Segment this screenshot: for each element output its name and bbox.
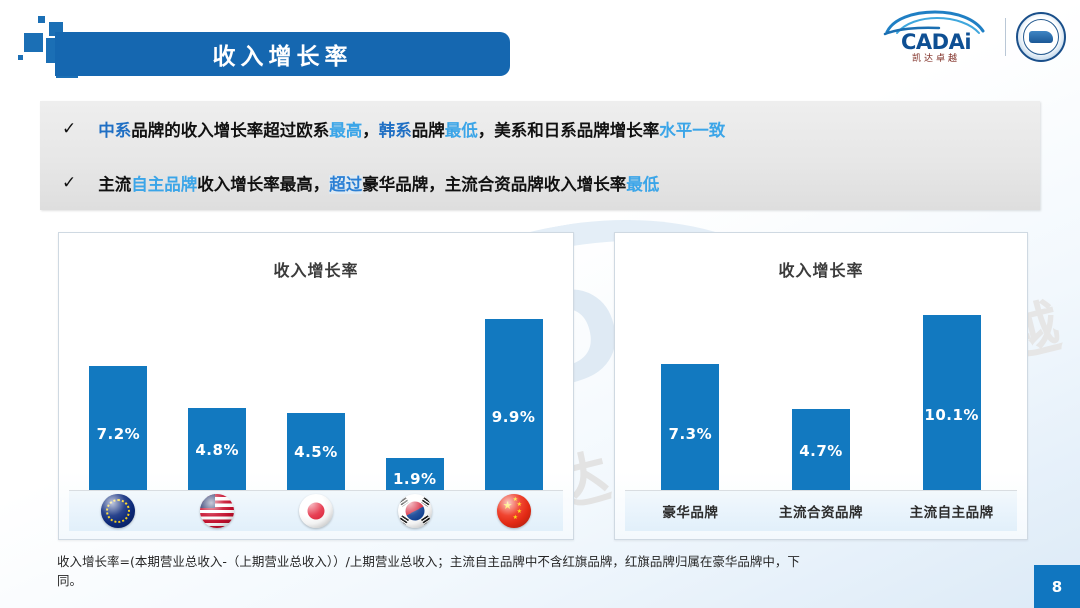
xaxis-label: 主流自主品牌 <box>910 501 994 521</box>
bar-value-label: 4.7% <box>792 442 850 460</box>
chart-left-bars: 7.2% 4.8% 4.5% 1.9% 9.9% <box>69 291 563 491</box>
bar-value-label: 7.3% <box>661 425 719 443</box>
xaxis-label: 豪华品牌 <box>662 501 718 521</box>
bullet-seg: 中系 <box>98 121 131 140</box>
flag-kr-icon <box>398 494 432 528</box>
bar-slot: 4.5% <box>267 291 366 491</box>
bullet-seg: 主流 <box>98 175 131 194</box>
chart-left-title: 收入增长率 <box>59 257 573 281</box>
bullet-item-2-text: 主流自主品牌收入增长率最高，超过豪华品牌，主流合资品牌收入增长率最低 <box>98 171 659 195</box>
bullet-seg: 韩系 <box>379 121 412 140</box>
flag-cn-icon: ★★ ★★★ <box>497 494 531 528</box>
bar-slot: 4.7% <box>756 291 887 491</box>
xaxis-cell <box>267 494 366 528</box>
bar-jp[interactable]: 4.5% <box>287 413 345 491</box>
flag-us-icon <box>200 494 234 528</box>
bar-slot: 9.9% <box>464 291 563 491</box>
seal-core-icon <box>1029 31 1053 43</box>
bullet-seg: 收入增长率最高， <box>197 175 329 194</box>
chart-left-by-origin: 收入增长率 7.2% 4.8% 4.5% 1.9% 9.9% <box>58 232 574 540</box>
bar-value-label: 1.9% <box>386 470 444 488</box>
check-mark-icon: ✓ <box>62 121 76 138</box>
bar-luxury[interactable]: 7.3% <box>661 364 719 491</box>
bullet-seg: ，美系和日系品牌增长率 <box>478 121 660 140</box>
chart-left-plot: 7.2% 4.8% 4.5% 1.9% 9.9% <box>69 291 563 491</box>
bullet-seg: ， <box>362 121 379 140</box>
brand-lockup: CADAi 凯达卓越 <box>877 10 1066 64</box>
bullet-seg: 水平一致 <box>659 121 725 140</box>
bullet-seg: 最低 <box>445 121 478 140</box>
check-mark-icon: ✓ <box>62 175 76 192</box>
bullet-item-1: ✓ 中系品牌的收入增长率超过欧系最高，韩系品牌最低，美系和日系品牌增长率水平一致 <box>62 117 725 141</box>
chart-left-xaxis: ★★ ★★★ <box>69 491 563 531</box>
xaxis-cell: ★★ ★★★ <box>464 494 563 528</box>
xaxis-cell <box>168 494 267 528</box>
circular-seal-icon <box>1016 12 1066 62</box>
bar-slot: 4.8% <box>168 291 267 491</box>
xaxis-cell <box>365 494 464 528</box>
bullet-seg: 自主品牌 <box>131 175 197 194</box>
bar-slot: 10.1% <box>886 291 1017 491</box>
bullet-item-2: ✓ 主流自主品牌收入增长率最高，超过豪华品牌，主流合资品牌收入增长率最低 <box>62 171 659 195</box>
xaxis-cell: 豪华品牌 <box>625 501 756 521</box>
bar-us[interactable]: 4.8% <box>188 408 246 491</box>
bar-cn[interactable]: 9.9% <box>485 319 543 491</box>
bar-slot: 1.9% <box>365 291 464 491</box>
bullet-seg-highlight: 超过 <box>329 175 362 194</box>
bar-value-label: 7.2% <box>89 425 147 443</box>
cadai-logo: CADAi 凯达卓越 <box>877 10 995 64</box>
brand-divider <box>1005 18 1006 56</box>
xaxis-cell: 主流自主品牌 <box>886 501 1017 521</box>
bar-joint-venture[interactable]: 4.7% <box>792 409 850 491</box>
page-number: 8 <box>1034 565 1080 608</box>
bullet-seg: 豪华品牌，主流合资品牌收入增长率 <box>362 175 626 194</box>
flag-jp-icon <box>299 494 333 528</box>
bar-kr[interactable]: 1.9% <box>386 458 444 491</box>
chart-right-title: 收入增长率 <box>615 257 1027 281</box>
footnote: 收入增长率=(本期营业总收入-（上期营业总收入））/上期营业总收入；主流自主品牌… <box>57 552 817 591</box>
bullet-item-1-text: 中系品牌的收入增长率超过欧系最高，韩系品牌最低，美系和日系品牌增长率水平一致 <box>98 117 725 141</box>
bar-slot: 7.3% <box>625 291 756 491</box>
chart-right-bars: 7.3% 4.7% 10.1% <box>625 291 1017 491</box>
bar-slot: 7.2% <box>69 291 168 491</box>
bar-value-label: 4.5% <box>287 443 345 461</box>
bullet-seg: 最低 <box>626 175 659 194</box>
bar-domestic[interactable]: 10.1% <box>923 315 981 491</box>
xaxis-label: 主流合资品牌 <box>779 501 863 521</box>
bullet-seg: 最高 <box>329 121 362 140</box>
bullet-panel: ✓ 中系品牌的收入增长率超过欧系最高，韩系品牌最低，美系和日系品牌增长率水平一致… <box>40 101 1040 210</box>
flag-eu-icon <box>101 494 135 528</box>
bar-value-label: 4.8% <box>188 441 246 459</box>
slide-revenue-growth-rate: CADAi 凯 达 卓 越 收入增长率 CADAi 凯达卓越 ✓ <box>0 0 1080 608</box>
bar-eu[interactable]: 7.2% <box>89 366 147 491</box>
chart-right-plot: 7.3% 4.7% 10.1% <box>625 291 1017 491</box>
page-title: 收入增长率 <box>213 37 353 71</box>
chart-right-by-segment: 收入增长率 7.3% 4.7% 10.1% 豪华品牌 主流合资品牌 主流自主品牌 <box>614 232 1028 540</box>
bullet-seg: 品牌 <box>412 121 445 140</box>
bar-value-label: 9.9% <box>485 408 543 426</box>
chart-right-xaxis: 豪华品牌 主流合资品牌 主流自主品牌 <box>625 491 1017 531</box>
page-title-bar: 收入增长率 <box>55 32 510 76</box>
xaxis-cell <box>69 494 168 528</box>
bar-value-label: 10.1% <box>923 406 981 424</box>
xaxis-cell: 主流合资品牌 <box>756 501 887 521</box>
bullet-seg: 品牌的收入增长率超过欧系 <box>131 121 329 140</box>
cadai-subtitle: 凯达卓越 <box>877 51 995 64</box>
